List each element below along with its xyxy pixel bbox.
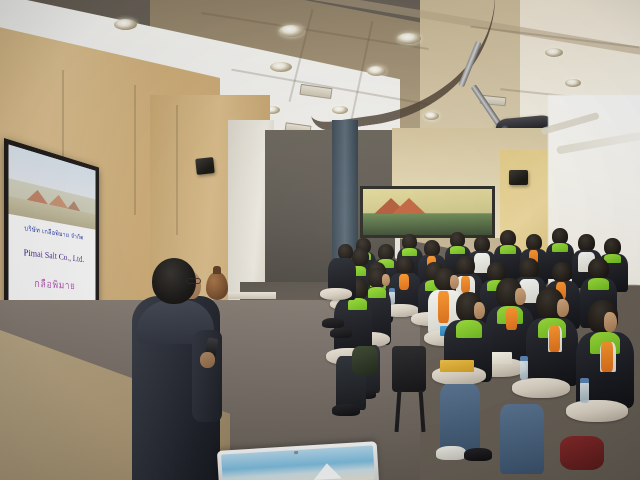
photo-scene: บริษัท เกลือพิมาย จำกัด Pimai Salt Co., … — [0, 0, 640, 480]
slide-title-english: Pimai Salt Co., Ltd. — [24, 247, 85, 264]
tablet-arm-desk — [566, 400, 628, 422]
vase-decor — [206, 272, 228, 300]
laptop-wallpaper-sail-icon — [312, 462, 341, 480]
wall-art-treeline — [363, 214, 492, 235]
audience-shoe — [464, 448, 492, 461]
baseboard — [228, 292, 276, 299]
audience-scarf — [461, 276, 470, 293]
audience-head — [552, 262, 572, 283]
wall-seam — [134, 85, 136, 215]
audience-face — [515, 288, 526, 305]
audience-legs — [440, 384, 480, 454]
wall-speaker-icon — [509, 170, 528, 185]
audience-face — [450, 275, 459, 289]
audience-shoe — [330, 328, 352, 338]
handout-paper — [440, 360, 474, 372]
audience-head — [519, 258, 539, 279]
water-bottle — [520, 360, 528, 380]
downlight — [114, 19, 137, 30]
audience-collar — [552, 243, 568, 252]
audience-collar — [588, 278, 609, 290]
wall-art-mountain-icon — [391, 198, 427, 215]
audience-collar — [456, 320, 482, 338]
downlight — [270, 62, 292, 72]
audience-collar — [368, 287, 386, 298]
bottle-cap — [520, 356, 528, 361]
audience-scarf — [601, 342, 613, 372]
audience-face — [474, 302, 485, 319]
tablet-arm-desk — [512, 378, 570, 398]
audience-scarf — [399, 274, 409, 290]
audience-legs — [500, 404, 544, 474]
laptop-screen[interactable] — [221, 445, 375, 480]
audience-collar — [450, 246, 465, 254]
backpack — [352, 346, 378, 376]
audience-scarf — [506, 308, 517, 330]
presenter-hand — [200, 352, 215, 368]
slide-thai-heading: บริษัท เกลือพิมาย จำกัด — [24, 224, 83, 244]
audience-face — [557, 299, 569, 317]
wall-art-frame — [360, 186, 495, 238]
audience-head — [456, 256, 475, 276]
audience-head — [588, 258, 609, 280]
audience-scarf — [438, 291, 449, 323]
water-bottle — [580, 382, 589, 403]
audience-shoe — [332, 404, 360, 416]
bottle-cap — [580, 378, 589, 383]
vase-neck — [213, 266, 221, 274]
audience-collar — [402, 248, 417, 256]
audience-shoe — [436, 446, 466, 460]
chair-back — [392, 346, 426, 392]
wall-speaker-icon — [195, 157, 215, 175]
bottle-cap — [389, 288, 395, 292]
audience-shoe — [322, 318, 344, 328]
wall-seam — [176, 105, 178, 235]
audience-face — [382, 274, 390, 286]
audience-collar — [500, 245, 516, 254]
audience-scarf — [549, 326, 560, 352]
tablet-arm-desk — [320, 288, 352, 300]
webcam-icon — [294, 451, 298, 454]
presenter-glasses-icon — [186, 278, 201, 284]
backpack — [560, 436, 604, 470]
audience-face — [604, 312, 617, 332]
slide-logo-mark: กลือพิมาย — [34, 274, 75, 293]
